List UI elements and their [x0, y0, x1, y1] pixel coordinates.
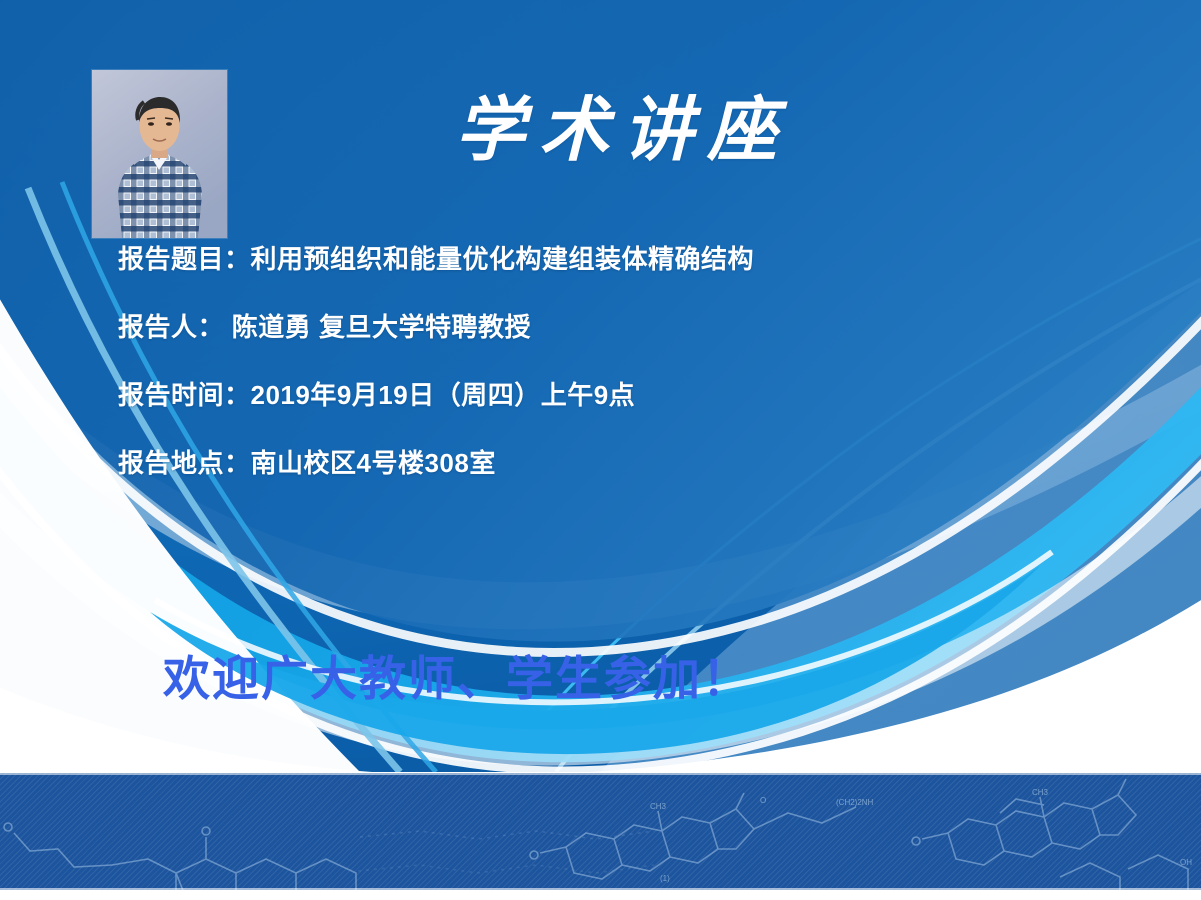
- avatar: [92, 70, 227, 238]
- welcome-message: 欢迎广大教师、学生参加！: [163, 655, 751, 702]
- speaker-photo: [92, 70, 227, 238]
- svg-text:(1): (1): [660, 874, 670, 883]
- page-title: 学术讲座: [455, 95, 791, 165]
- detail-time: 报告时间：2019年9月19日（周四）上午9点: [118, 382, 1018, 408]
- band-bottom-divider: [0, 888, 1201, 890]
- band-top-divider: [0, 773, 1201, 775]
- seminar-poster: CH3 CH3 O (CH2)2NH OH COOH O (1): [0, 0, 1201, 900]
- detail-title: 报告题目：利用预组织和能量优化构建组装体精确结构: [118, 246, 1018, 272]
- detail-speaker: 报告人： 陈道勇 复旦大学特聘教授: [118, 314, 1018, 340]
- detail-location: 报告地点：南山校区4号楼308室: [118, 450, 1018, 476]
- svg-text:CH3: CH3: [650, 802, 667, 811]
- svg-text:(CH2)2NH: (CH2)2NH: [836, 798, 874, 807]
- molecular-footer-band: CH3 CH3 O (CH2)2NH OH COOH O (1): [0, 773, 1201, 890]
- chemical-structure-icon: CH3 CH3 O (CH2)2NH OH COOH O (1): [0, 773, 1201, 890]
- svg-text:CH3: CH3: [1032, 788, 1049, 797]
- svg-text:OH: OH: [1180, 858, 1192, 867]
- svg-text:O: O: [760, 796, 766, 805]
- seminar-details: 报告题目：利用预组织和能量优化构建组装体精确结构 报告人： 陈道勇 复旦大学特聘…: [118, 246, 1018, 476]
